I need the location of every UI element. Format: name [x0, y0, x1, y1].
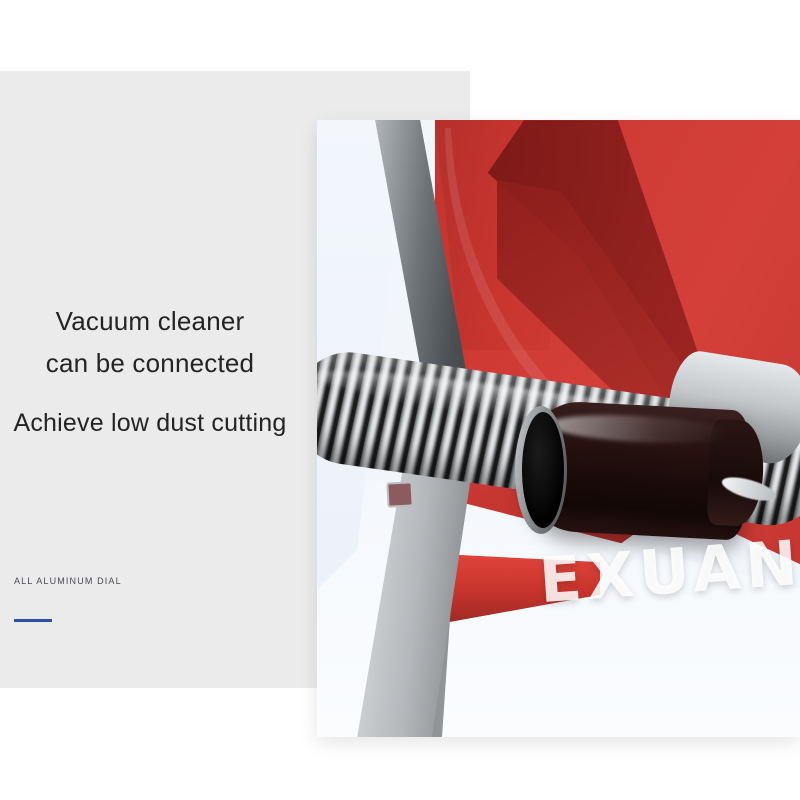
marketing-copy: Vacuum cleaner can be connected Achieve … [0, 300, 300, 444]
product-photo: EXUAN [317, 120, 800, 737]
feature-caption: ALL ALUMINUM DIAL [14, 576, 122, 586]
accent-rule [14, 619, 52, 622]
copy-line-3: Achieve low dust cutting [0, 402, 300, 444]
copy-line-1: Vacuum cleaner [0, 300, 300, 342]
copy-line-2: can be connected [0, 342, 300, 384]
product-banner: Vacuum cleaner can be connected Achieve … [0, 0, 800, 800]
leg-label-sticker [386, 481, 413, 507]
dust-port-opening [522, 412, 564, 528]
